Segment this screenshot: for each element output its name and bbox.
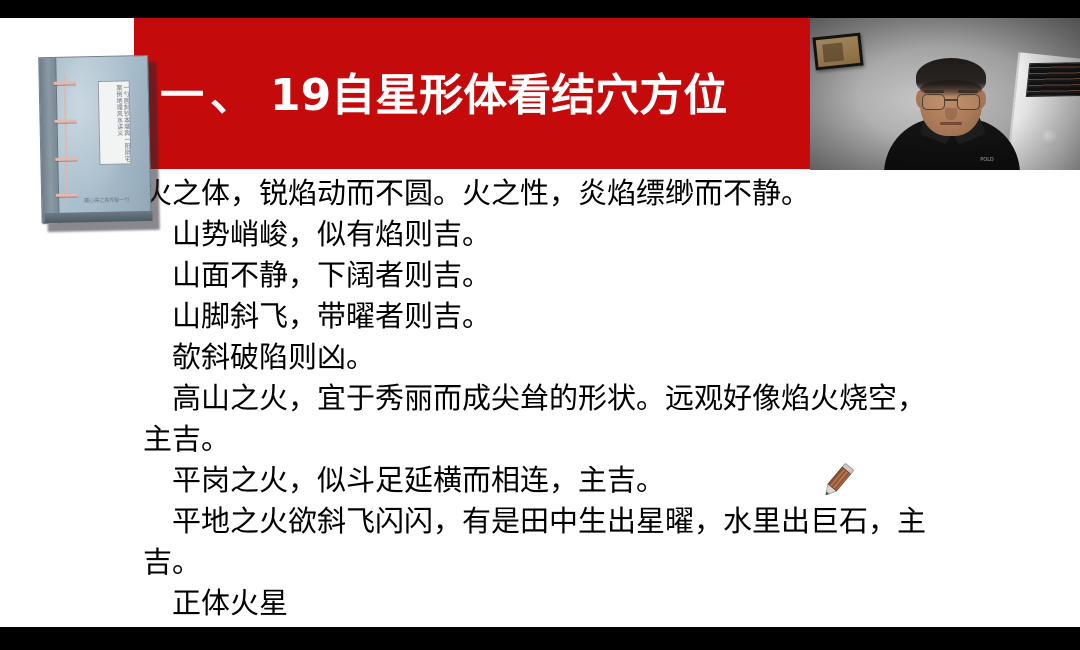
presentation-slide: 一、19自星形体看结穴方位 一勺居刻钞本堪舆一阳阴宅案例地理风水讲义 藏心得之真… [0, 18, 1080, 627]
slide-title-enumerator: 一、 [160, 70, 260, 121]
body-line: 高山之火，宜于秀丽而成尖耸的形状。远观好像焰火烧空，主吉。 [143, 378, 943, 460]
pencil-icon[interactable] [814, 458, 860, 504]
body-line: 平地之火欲斜飞闪闪，有是田中生出星曜，水里出巨石，主吉。 [143, 501, 943, 583]
book-stitch [55, 119, 77, 122]
book-stitch [56, 193, 78, 196]
presenter-eyebrow-left [924, 90, 944, 93]
book-title-label: 一勺居刻钞本堪舆一阳阴宅案例地理风水讲义 [98, 80, 132, 165]
book-label-calligraphy: 一勺居刻钞本堪舆一阳阴宅案例地理风水讲义 [101, 84, 131, 163]
presenter-mouth [940, 122, 962, 125]
book-foot-calligraphy: 藏心得之真传秘一勺 [84, 196, 142, 206]
body-line: 正体火星 [143, 583, 943, 624]
presenter: POLO [810, 18, 1080, 170]
letterbox-bar-bottom [0, 627, 1080, 650]
book-cover: 一勺居刻钞本堪舆一阳阴宅案例地理风水讲义 藏心得之真传秘一勺 [38, 55, 151, 223]
presenter-shirt-logo: POLO [972, 156, 1002, 165]
glasses-bridge [945, 99, 957, 101]
glasses-lens-left [922, 94, 945, 110]
glasses-lens-right [957, 94, 980, 110]
book-cover-image: 一勺居刻钞本堪舆一阳阴宅案例地理风水讲义 藏心得之真传秘一勺 [38, 55, 160, 231]
video-player-screen: 一、19自星形体看结穴方位 一勺居刻钞本堪舆一阳阴宅案例地理风水讲义 藏心得之真… [0, 0, 1080, 650]
slide-body-text: 火之体，锐焰动而不圆。火之性，炎焰缥缈而不静。 山势峭峻，似有焰则吉。 山面不静… [143, 173, 943, 624]
body-line: 火之体，锐焰动而不圆。火之性，炎焰缥缈而不静。 [143, 173, 943, 214]
slide-title: 一、19自星形体看结穴方位 [160, 71, 727, 121]
body-line: 山势峭峻，似有焰则吉。 [143, 214, 943, 255]
book-stitch-rail [64, 74, 69, 202]
book-stitch [54, 81, 76, 84]
presenter-nose [945, 108, 957, 120]
presenter-webcam-overlay[interactable]: POLO [810, 18, 1080, 170]
book-stitch [55, 157, 77, 160]
body-line: 欹斜破陷则凶。 [143, 337, 943, 378]
letterbox-bar-top [0, 0, 1080, 18]
slide-title-text: 19自星形体看结穴方位 [270, 70, 727, 121]
presenter-eyebrow-right [958, 90, 978, 93]
body-line: 山面不静，下阔者则吉。 [143, 255, 943, 296]
body-line: 山脚斜飞，带曜者则吉。 [143, 296, 943, 337]
